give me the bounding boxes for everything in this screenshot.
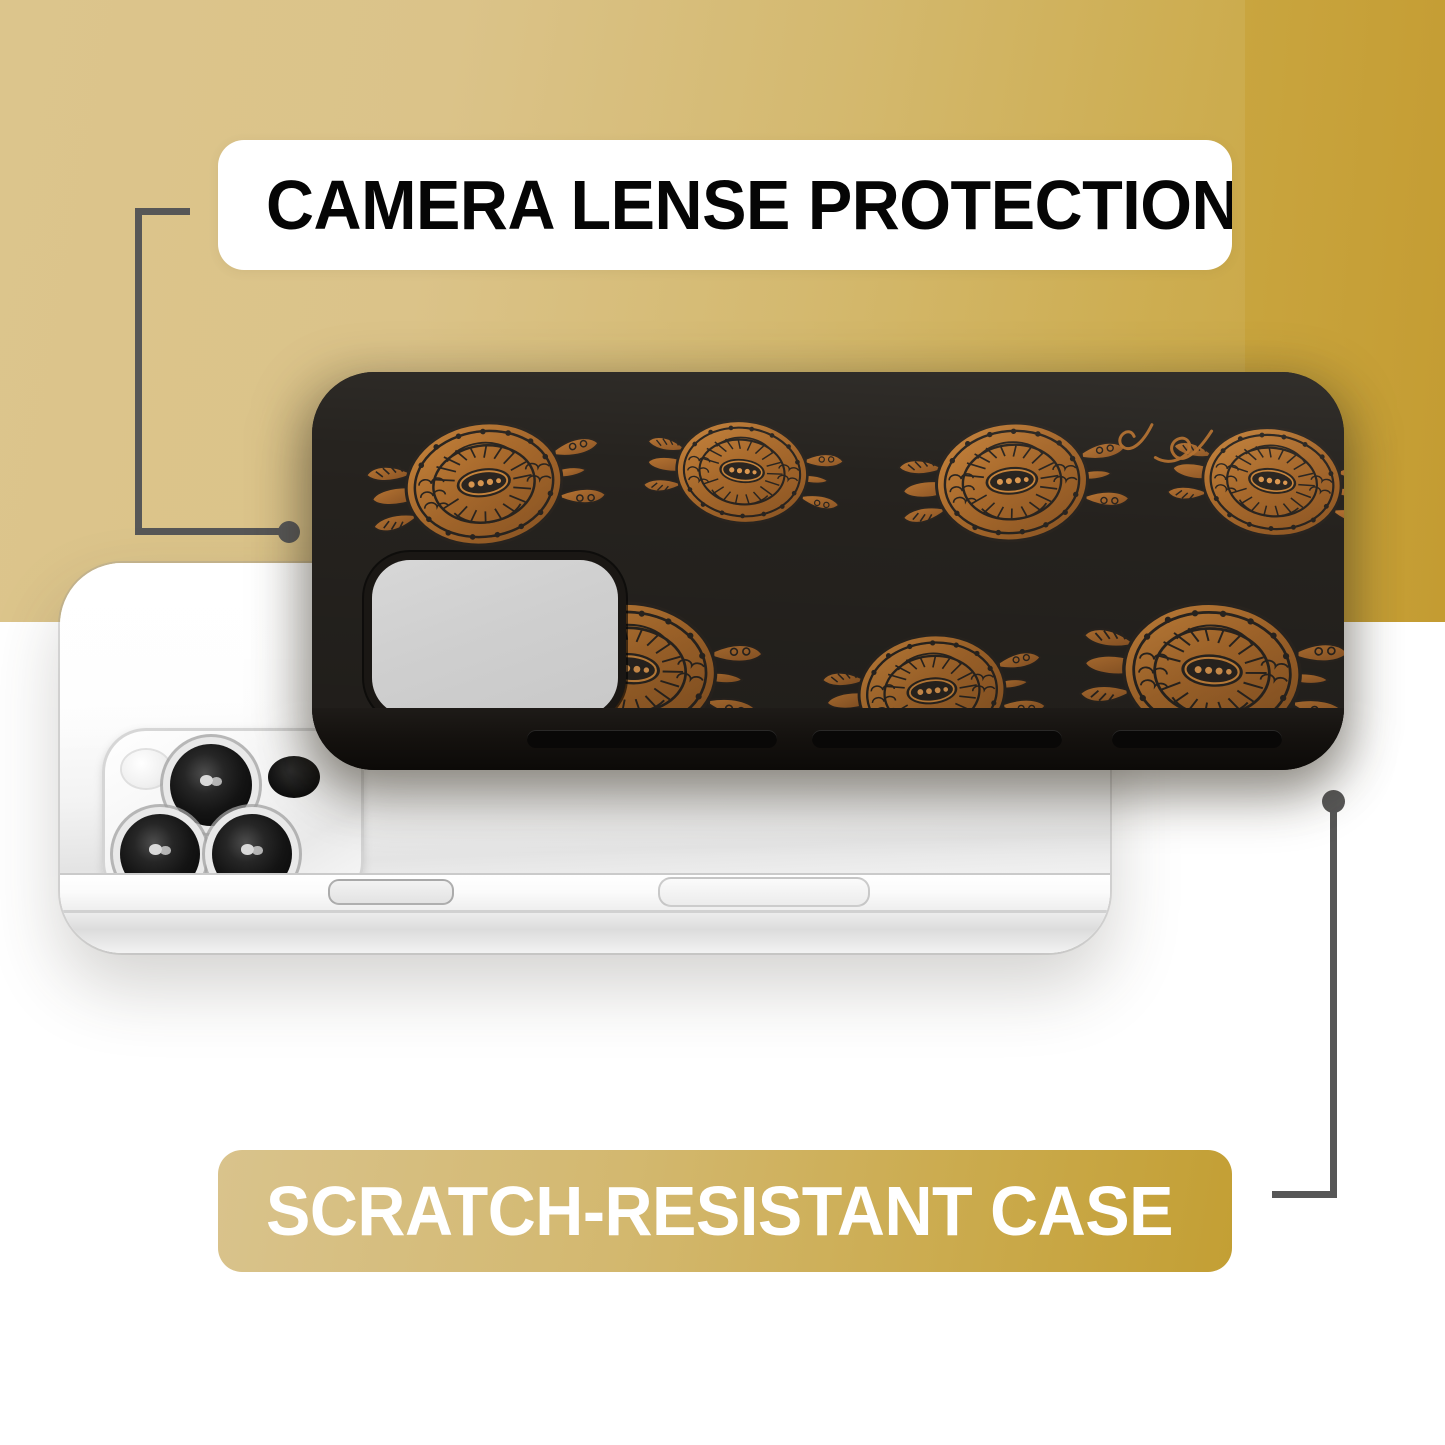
product-infographic: CAMERA LENSE PROTECTION SCRATCH-RESISTAN…	[0, 0, 1445, 1445]
dot-icon-top	[278, 521, 300, 543]
camera-cutout-lip	[364, 552, 626, 724]
phone-case	[312, 372, 1344, 770]
power-button[interactable]	[658, 877, 870, 907]
flash-icon	[122, 750, 170, 788]
callout-label-top: CAMERA LENSE PROTECTION	[266, 170, 1232, 240]
case-cutout-speaker-right	[1112, 730, 1282, 748]
top-connector-segment-upper	[135, 208, 190, 215]
callout-scratch-resistant-case: SCRATCH-RESISTANT CASE	[218, 1150, 1232, 1272]
case-cutout-speaker-left	[527, 730, 777, 748]
callout-camera-lens-protection: CAMERA LENSE PROTECTION	[218, 140, 1232, 270]
volume-button[interactable]	[328, 879, 454, 905]
camera-cutout-window	[372, 560, 618, 716]
case-bottom-lip	[312, 708, 1344, 770]
phone-side-rail	[60, 873, 1110, 953]
case-cutout-port	[812, 730, 1062, 748]
top-connector-segment-vertical	[135, 208, 142, 535]
bottom-connector-segment-vertical	[1330, 800, 1337, 1198]
bottom-connector-segment-horizontal	[1272, 1191, 1337, 1198]
phone-antenna-line	[60, 910, 1110, 913]
top-connector-segment-lower	[135, 528, 290, 535]
camera-lens-icon-top	[170, 744, 252, 826]
callout-label-bottom: SCRATCH-RESISTANT CASE	[266, 1176, 1173, 1246]
case-watermark-signature	[1094, 386, 1225, 492]
